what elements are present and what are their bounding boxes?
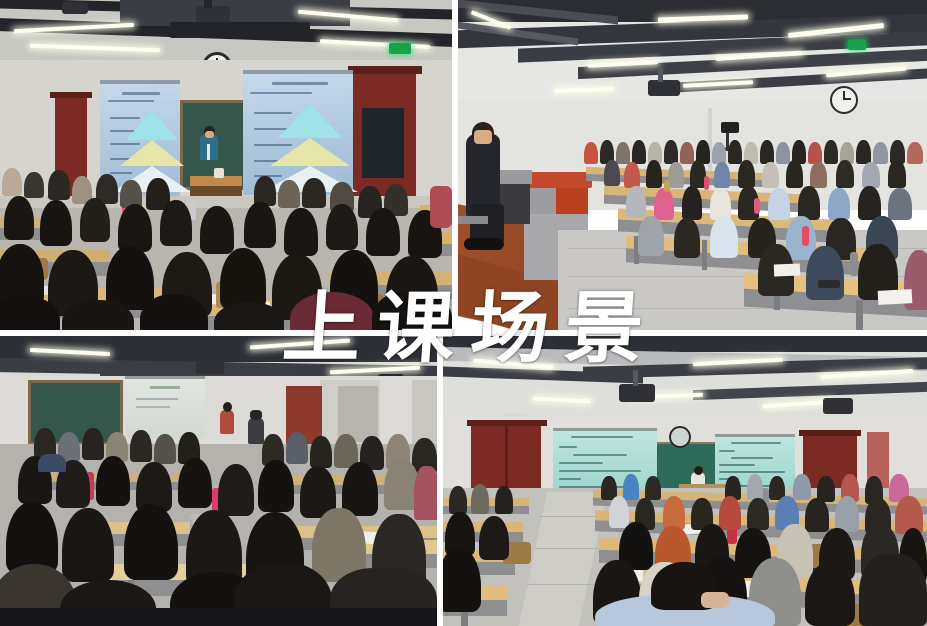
exit-sign — [848, 40, 866, 50]
exit-sign — [389, 43, 411, 54]
photo-collage: 上课场景 — [0, 0, 927, 626]
presenter — [220, 410, 234, 434]
photo-top-right — [458, 0, 927, 330]
photo-bottom-right — [443, 336, 927, 626]
projector-2 — [823, 398, 853, 414]
photo-bottom-left — [0, 336, 437, 626]
presenter-2 — [248, 418, 264, 444]
photo-top-left — [0, 0, 452, 330]
projector — [648, 80, 680, 96]
projector — [196, 360, 224, 374]
video-camera — [721, 122, 739, 133]
projector — [619, 384, 655, 402]
wall-clock-icon — [669, 426, 691, 448]
projector — [196, 6, 230, 22]
